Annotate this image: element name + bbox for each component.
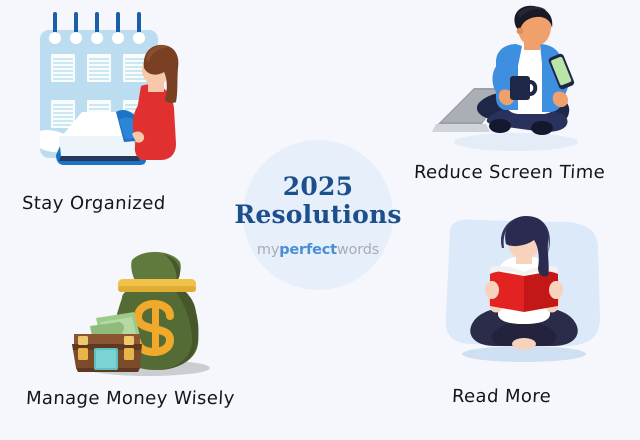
illustration-stay-organized — [20, 8, 205, 178]
label-manage-money: Manage Money Wisely — [25, 388, 235, 409]
illustration-manage-money — [60, 252, 225, 382]
title-year: 2025 — [283, 173, 353, 201]
logo-part-my: my — [257, 242, 279, 258]
illustration-read-more — [432, 214, 617, 386]
title-word: Resolutions — [234, 201, 401, 229]
treasure-chest — [72, 334, 142, 372]
label-stay-organized: Stay Organized — [21, 193, 166, 214]
center-title-block: 2025 Resolutions myperfectwords — [243, 140, 393, 290]
logo-part-perfect: perfect — [279, 242, 337, 258]
label-read-more: Read More — [451, 386, 551, 407]
logo-part-words: words — [337, 242, 379, 258]
dollar-sign — [137, 302, 170, 356]
illustration-reduce-screen-time — [430, 6, 595, 156]
label-reduce-screen-time: Reduce Screen Time — [413, 162, 605, 183]
brand-logo: myperfectwords — [257, 242, 379, 258]
infographic-canvas: 2025 Resolutions myperfectwords — [0, 0, 640, 440]
